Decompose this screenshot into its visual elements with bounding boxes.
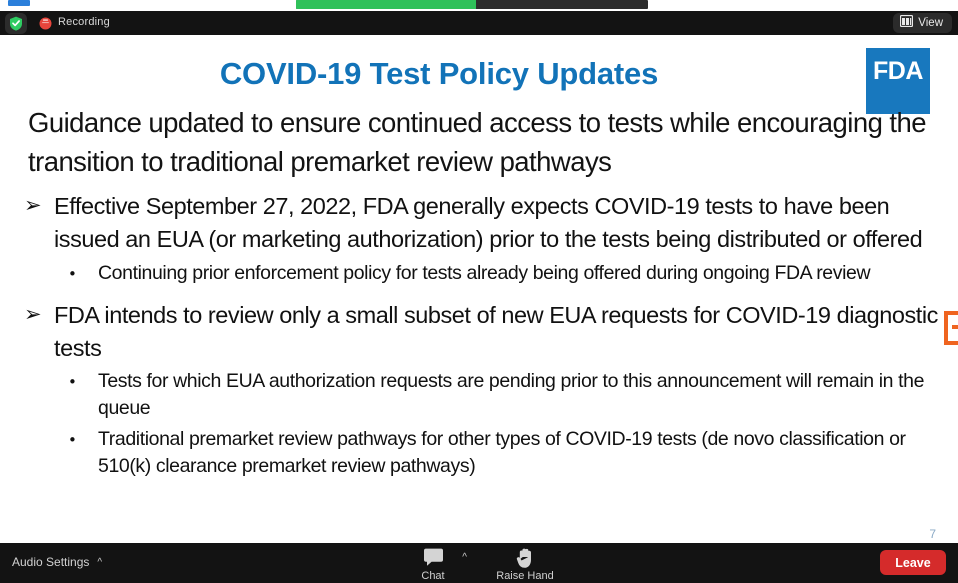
toolbar-center-controls: Chat ^ Raise Hand (401, 546, 557, 582)
slide-bullet-list: ➢ Effective September 27, 2022, FDA gene… (24, 190, 944, 480)
os-top-strip (0, 0, 958, 11)
sub-bullet-item: • Tests for which EUA authorization requ… (24, 368, 944, 422)
leave-button[interactable]: Leave (880, 550, 946, 575)
bullet-text: FDA intends to review only a small subse… (54, 299, 944, 365)
bullet-text: Effective September 27, 2022, FDA genera… (54, 190, 944, 256)
bullet-marker-arrow-icon: ➢ (24, 190, 54, 219)
os-window-chrome-fragment (8, 0, 30, 6)
audio-settings-label: Audio Settings (12, 555, 89, 569)
bullet-marker-arrow-icon: ➢ (24, 299, 54, 328)
screen-share-progress-bar (296, 0, 648, 9)
security-shield-icon[interactable] (5, 13, 27, 34)
raise-hand-label: Raise Hand (496, 570, 553, 582)
chat-label: Chat (421, 570, 444, 582)
screen-share-progress-fill (296, 0, 476, 9)
slide-subtitle: Guidance updated to ensure continued acc… (28, 104, 928, 181)
view-button-label: View (918, 17, 943, 29)
sub-bullet-marker-dot-icon: • (68, 368, 98, 394)
sub-bullet-marker-dot-icon: • (68, 260, 98, 286)
bullet-item: ➢ FDA intends to review only a small sub… (24, 299, 944, 365)
sub-bullet-marker-dot-icon: • (68, 426, 98, 452)
sub-bullet-item: • Continuing prior enforcement policy fo… (24, 260, 944, 287)
audio-settings-button[interactable]: Audio Settings ^ (12, 555, 102, 569)
slide-title: COVID-19 Test Policy Updates (0, 56, 878, 92)
bullet-item: ➢ Effective September 27, 2022, FDA gene… (24, 190, 944, 256)
sub-bullet-text: Continuing prior enforcement policy for … (98, 260, 944, 287)
sub-bullet-item: • Traditional premarket review pathways … (24, 426, 944, 480)
chat-bubble-icon (423, 546, 444, 568)
chat-chevron-up-icon[interactable]: ^ (462, 552, 467, 563)
slide-page-number: 7 (929, 527, 936, 541)
view-button[interactable]: View (893, 13, 952, 33)
recording-indicator-icon[interactable] (38, 16, 52, 30)
chevron-up-icon[interactable]: ^ (97, 557, 102, 568)
partial-reaction-icon (942, 307, 958, 349)
layout-grid-icon (900, 14, 913, 32)
shared-slide-content: FDA COVID-19 Test Policy Updates Guidanc… (0, 35, 958, 543)
zoom-meeting-window: Recording View FDA COVID-19 Test Policy … (0, 0, 958, 583)
recording-label: Recording (58, 16, 110, 28)
raise-hand-button[interactable]: Raise Hand (493, 546, 557, 582)
sub-bullet-text: Traditional premarket review pathways fo… (98, 426, 944, 480)
meeting-bottom-toolbar: Audio Settings ^ Chat ^ Raise (0, 543, 958, 583)
chat-button[interactable]: Chat ^ (401, 546, 465, 582)
sub-bullet-text: Tests for which EUA authorization reques… (98, 368, 944, 422)
meeting-top-bar: Recording View (0, 11, 958, 35)
raised-hand-icon (516, 546, 535, 568)
